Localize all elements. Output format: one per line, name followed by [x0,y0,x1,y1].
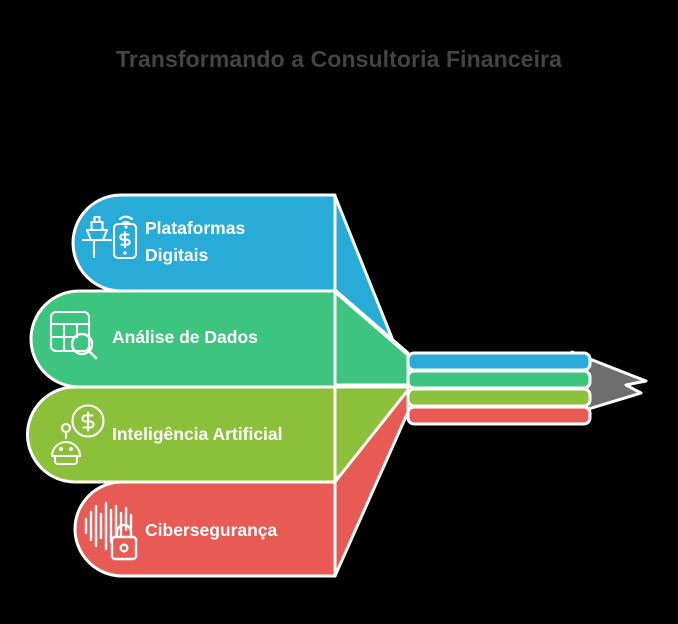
stripe-ciberseguranca [408,407,590,424]
bar-ciberseguranca[interactable]: Cibersegurança [75,482,335,576]
bar-plataformas-digitais[interactable]: Plataformas Digitais [73,195,335,291]
bar-shape-plataformas-digitais[interactable] [73,195,335,291]
stripe-analise-de-dados [408,371,590,388]
stripe-inteligencia-artificial [408,389,590,406]
bar-label-inteligencia-artificial: Inteligência Artificial [112,424,283,444]
stripe-plataformas-digitais [408,353,590,370]
bar-label-analise-de-dados: Análise de Dados [112,327,258,347]
bar-label-plataformas-digitais-line1: Plataformas [145,218,245,238]
bar-label-ciberseguranca: Cibersegurança [145,520,278,540]
converged-stripes [408,353,590,424]
bar-label-plataformas-digitais-line2: Digitais [145,245,208,265]
funnel-wedges [335,196,408,576]
bar-inteligencia-artificial[interactable]: Inteligência Artificial [28,387,336,482]
bar-analise-de-dados[interactable]: Análise de Dados [31,291,335,387]
infographic-canvas: Transformando a Consultoria Financeira [0,0,678,624]
converging-arrow-diagram: Plataformas Digitais Anál [0,0,678,624]
